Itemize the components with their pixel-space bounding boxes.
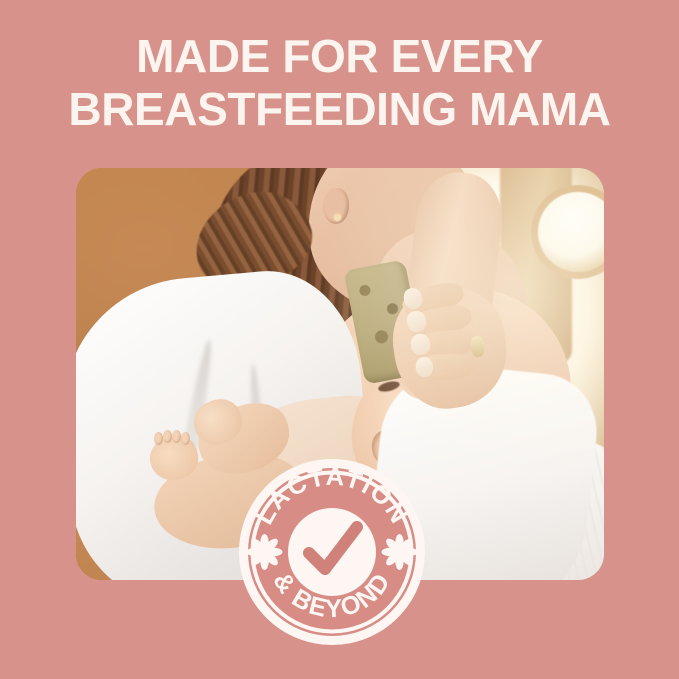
fingernail: [415, 357, 433, 378]
baby-toes: [154, 432, 196, 448]
headline-line-1: MADE FOR EVERY: [0, 30, 679, 83]
lactation-and-beyond-badge: LACTATION & BEYOND: [237, 457, 427, 647]
flower-left-icon: [247, 534, 283, 570]
flower-right-icon: [382, 534, 418, 570]
headline-line-2: BREASTFEEDING MAMA: [0, 83, 679, 136]
mother-earring: [334, 214, 341, 221]
page-title: MADE FOR EVERY BREASTFEEDING MAMA: [0, 30, 679, 136]
promo-image: MADE FOR EVERY BREASTFEEDING MAMA: [0, 0, 679, 679]
